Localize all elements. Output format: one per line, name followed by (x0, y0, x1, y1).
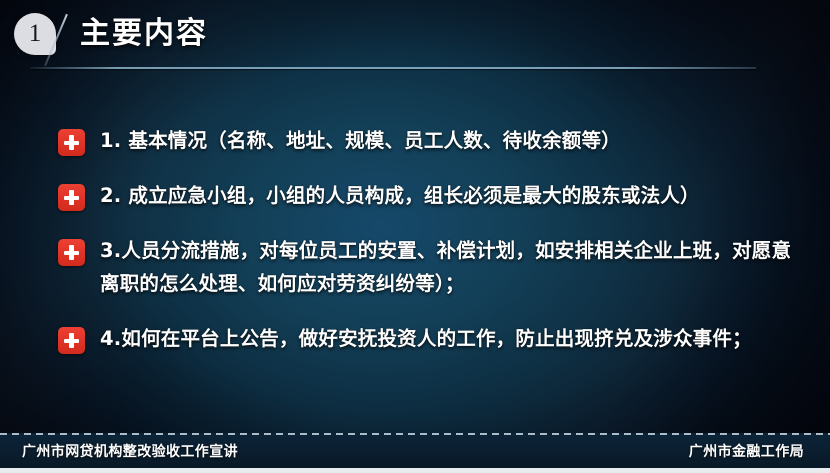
footer-dashed-divider (0, 433, 830, 435)
footer-bottom-strip (0, 468, 830, 473)
list-item-text: 4.如何在平台上公告，做好安抚投资人的工作，防止出现挤兑及涉众事件； (100, 322, 752, 355)
list-item-text: 1. 基本情况（名称、地址、规模、员工人数、待收余额等） (100, 124, 621, 157)
list-item: 3.人员分流措施，对每位员工的安置、补偿计划，如安排相关企业上班，对愿意离职的怎… (0, 234, 830, 300)
plus-square-icon (58, 129, 85, 156)
footer-right-label: 广州市金融工作局 (689, 441, 804, 461)
page-title: 主要内容 (80, 13, 208, 55)
plus-square-icon (58, 327, 85, 354)
presentation-slide: 1 主要内容 1. 基本情况（名称、地址、规模、员工人数、待收余额等） 2. 成… (0, 0, 830, 473)
list-item-text: 2. 成立应急小组，小组的人员构成，组长必须是最大的股东或法人） (100, 179, 700, 212)
slide-footer: 广州市网贷机构整改验收工作宣讲 广州市金融工作局 (0, 433, 830, 473)
footer-left-label: 广州市网贷机构整改验收工作宣讲 (22, 441, 238, 461)
plus-square-icon (58, 184, 85, 211)
title-divider (30, 67, 756, 69)
list-item: 2. 成立应急小组，小组的人员构成，组长必须是最大的股东或法人） (0, 179, 830, 212)
section-number-label: 1 (14, 13, 56, 55)
list-item: 1. 基本情况（名称、地址、规模、员工人数、待收余额等） (0, 124, 830, 157)
bullet-list: 1. 基本情况（名称、地址、规模、员工人数、待收余额等） 2. 成立应急小组，小… (0, 124, 830, 377)
plus-square-icon (58, 239, 85, 266)
list-item: 4.如何在平台上公告，做好安抚投资人的工作，防止出现挤兑及涉众事件； (0, 322, 830, 355)
slide-header: 1 主要内容 (0, 0, 830, 78)
list-item-text: 3.人员分流措施，对每位员工的安置、补偿计划，如安排相关企业上班，对愿意离职的怎… (100, 234, 805, 300)
section-number-badge-icon: 1 (14, 13, 56, 55)
